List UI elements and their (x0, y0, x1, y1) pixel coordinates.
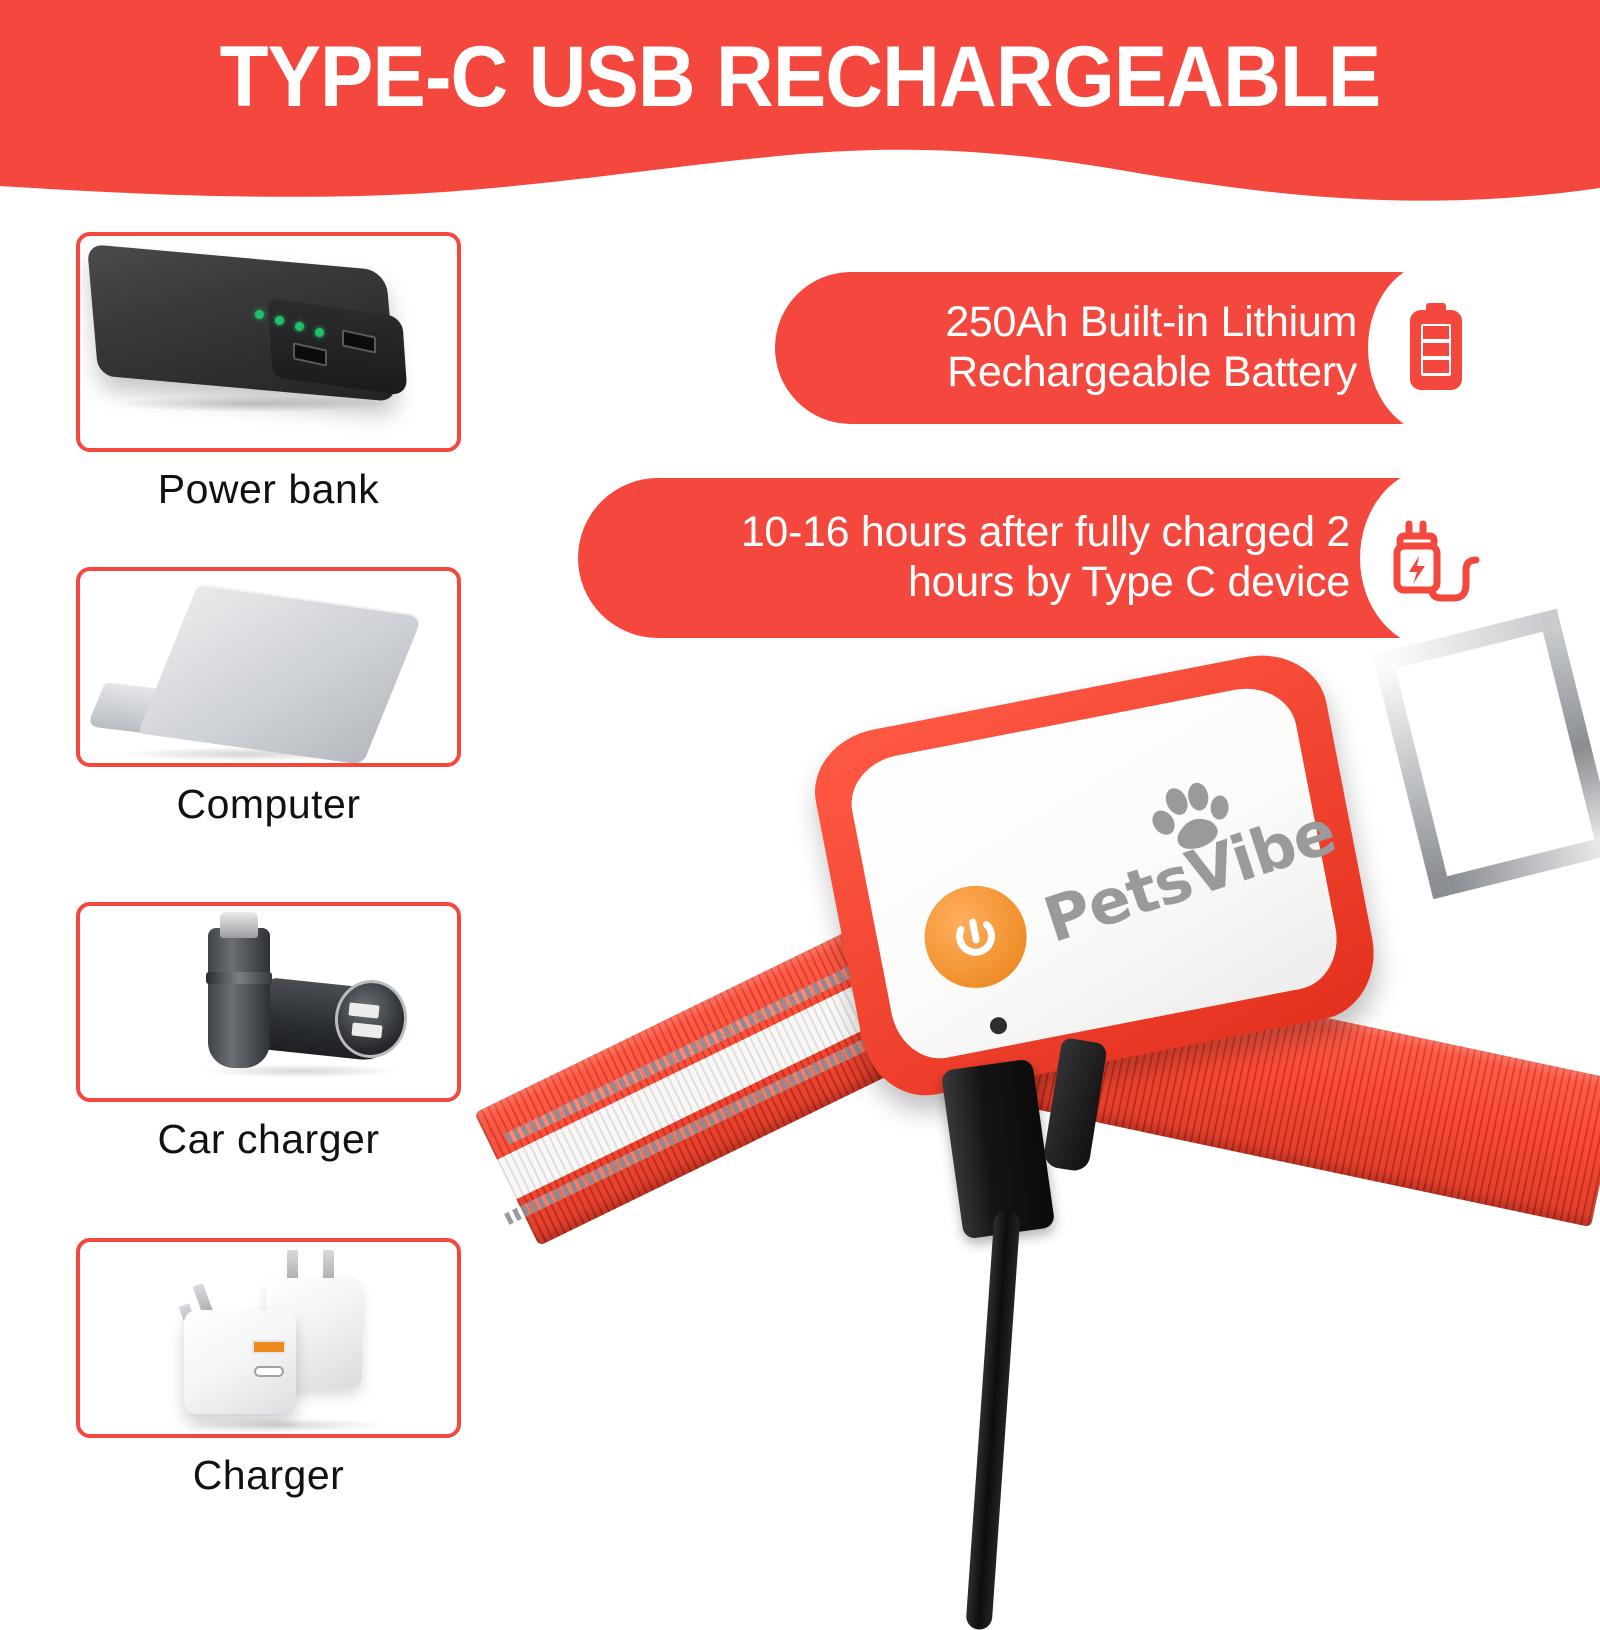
page-title: TYPE-C USB RECHARGEABLE (56, 22, 1544, 132)
feature-badge-battery (1368, 262, 1504, 434)
feature-pill-runtime: 10-16 hours after fully charged 2 hours … (578, 478, 1478, 638)
led-indicator-4-icon (315, 328, 324, 337)
feature-line-2: hours by Type C device (626, 558, 1350, 608)
led-indicator-1-icon (255, 310, 264, 319)
charging-source-power-bank: Power bank (76, 232, 461, 513)
wall-charger-shadow (180, 1418, 390, 1432)
computer-image-box (76, 567, 461, 767)
feature-pill-text: 250Ah Built-in Lithium Rechargeable Batt… (831, 298, 1357, 398)
wall-charger-front (184, 1310, 296, 1414)
led-indicator-3-icon (295, 322, 304, 331)
laptop-photo (80, 571, 457, 763)
car-charger-tip (220, 912, 258, 938)
feature-pill-text: 10-16 hours after fully charged 2 hours … (626, 508, 1350, 608)
usb-c-port-icon (254, 1366, 284, 1377)
wall-charger-photo (80, 1242, 457, 1434)
charging-source-label: Power bank (76, 466, 461, 513)
usb-c-cable (965, 1210, 1020, 1630)
charging-source-label: Charger (76, 1452, 461, 1499)
led-indicator-2-icon (275, 316, 284, 325)
car-charger-standing (208, 928, 270, 1068)
power-bank-shadow (110, 396, 390, 412)
usb-a-port-icon (252, 1340, 286, 1354)
feature-line-1: 10-16 hours after fully charged 2 (626, 508, 1350, 558)
car-charger-collar (206, 972, 272, 984)
charging-source-car-charger: Car charger (76, 902, 461, 1163)
charging-source-charger: Charger (76, 1238, 461, 1499)
charging-source-label: Computer (76, 781, 461, 828)
charging-source-label: Car charger (76, 1116, 461, 1163)
power-bank-image-box (76, 232, 461, 452)
car-charger-photo (80, 906, 457, 1098)
power-bank-photo (80, 236, 457, 448)
battery-icon (1406, 302, 1466, 394)
feature-line-2: Rechargeable Battery (831, 348, 1357, 398)
feature-line-1: 250Ah Built-in Lithium (831, 298, 1357, 348)
product-collar-scene: PetsVibe (440, 620, 1600, 1610)
charging-plug-icon (1387, 512, 1483, 604)
car-charger-image-box (76, 902, 461, 1102)
power-icon (949, 910, 1003, 964)
charger-image-box (76, 1238, 461, 1438)
charging-source-computer: Computer (76, 567, 461, 828)
laptop-lid (138, 583, 424, 765)
d-ring (1372, 609, 1600, 899)
